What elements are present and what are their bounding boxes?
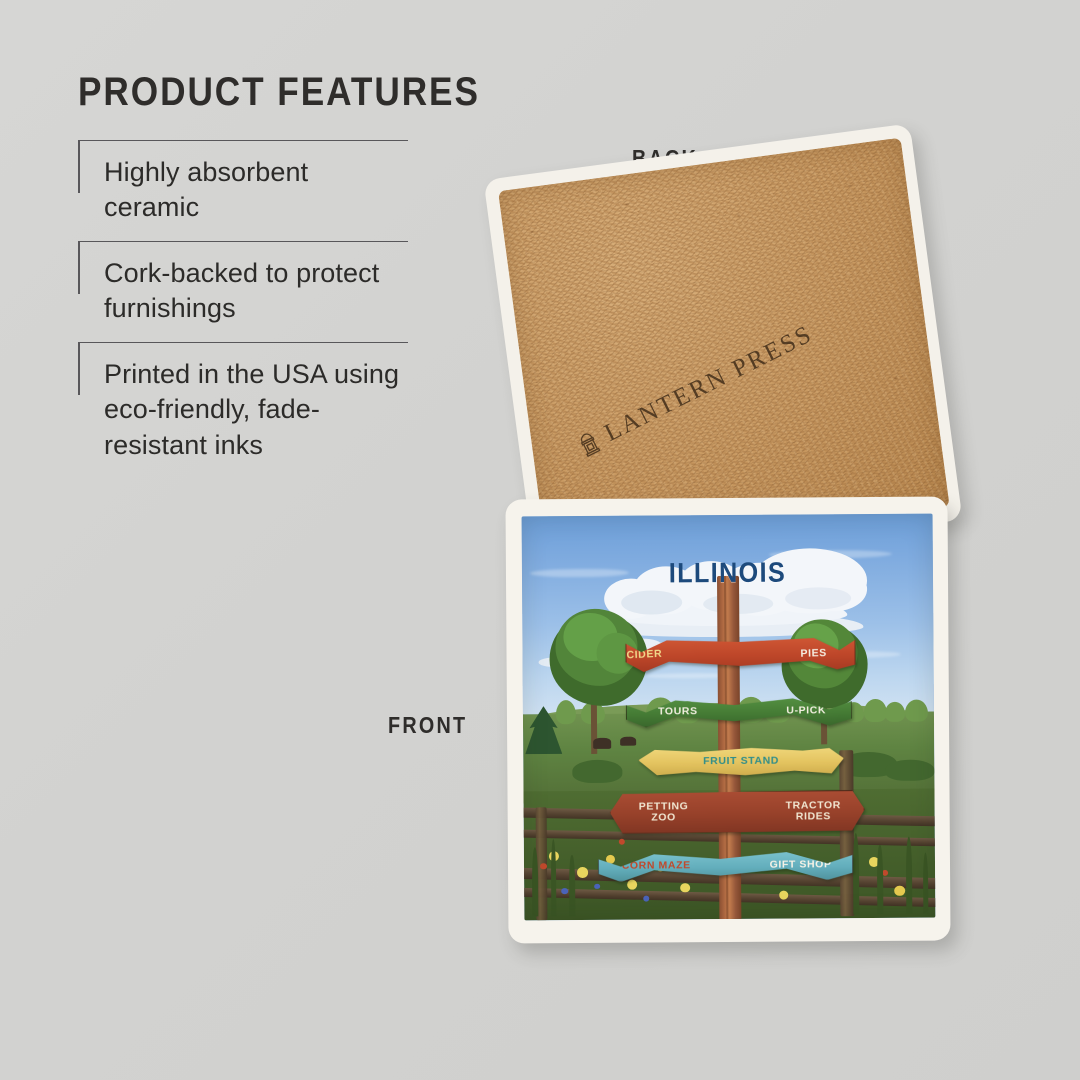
- feature-item: Printed in the USA using eco-friendly, f…: [78, 342, 408, 474]
- grass: [877, 845, 883, 914]
- feature-item: Cork-backed to protect furnishings: [78, 241, 408, 338]
- wildflower: [577, 867, 588, 878]
- sign-label-right: PIES: [801, 648, 828, 659]
- sign-label-right: FRUIT STAND: [639, 755, 843, 767]
- grass: [923, 853, 928, 914]
- sign-label-left: TOURS: [658, 706, 698, 717]
- grass: [569, 855, 575, 916]
- sign-tours-upick: TOURS U-PICK: [626, 696, 852, 727]
- grass: [853, 833, 859, 914]
- feature-text: Printed in the USA using eco-friendly, f…: [104, 357, 408, 462]
- sign-label-left: CIDER: [626, 649, 662, 661]
- shrub: [573, 760, 622, 783]
- sign-label-right: GIFT SHOP: [770, 859, 832, 870]
- product-listing-image: PRODUCT FEATURES Highly absorbent cerami…: [0, 0, 1080, 1080]
- wildflower: [894, 885, 905, 896]
- wildflower: [561, 888, 568, 894]
- wildflower: [779, 890, 788, 899]
- coaster-front: ILLINOIS: [505, 496, 950, 943]
- cloud-shadow: [785, 587, 851, 610]
- lantern-press-text: LANTERN PRESS: [600, 320, 817, 448]
- sign-corn-maze-gift-shop: CORN MAZE GIFT SHOP: [598, 849, 853, 881]
- horse: [593, 738, 611, 749]
- distant-tree: [885, 702, 906, 722]
- feature-item: Highly absorbent ceramic: [78, 140, 408, 237]
- sign-cider-pies: CIDER PIES: [625, 637, 855, 671]
- horse: [620, 736, 637, 746]
- lantern-icon: [574, 429, 604, 460]
- sign-fruit-stand: FRUIT STAND: [638, 746, 844, 776]
- state-name-title: ILLINOIS: [542, 556, 912, 591]
- distant-tree: [905, 699, 928, 721]
- label-front: FRONT: [388, 712, 467, 739]
- product-features-panel: PRODUCT FEATURES Highly absorbent cerami…: [78, 72, 408, 479]
- sign-label-right: TRACTOR RIDES: [786, 800, 841, 822]
- coaster-artwork: ILLINOIS: [522, 514, 936, 921]
- feature-text: Cork-backed to protect furnishings: [104, 256, 408, 326]
- wildflower: [618, 839, 624, 845]
- feature-text: Highly absorbent ceramic: [104, 155, 408, 225]
- distant-tree: [864, 699, 887, 722]
- sign-label-left: CORN MAZE: [622, 860, 691, 871]
- shrub: [885, 760, 934, 781]
- grass: [551, 839, 556, 916]
- sign-petting-zoo-tractor-rides: PETTING ZOO TRACTOR RIDES: [610, 791, 865, 833]
- wildflower: [594, 884, 600, 890]
- sign-label-right: U-PICK: [786, 705, 826, 716]
- lantern-press-brand: LANTERN PRESS: [574, 320, 818, 461]
- product-features-title: PRODUCT FEATURES: [78, 72, 368, 112]
- sign-label-left: PETTING ZOO: [639, 801, 689, 823]
